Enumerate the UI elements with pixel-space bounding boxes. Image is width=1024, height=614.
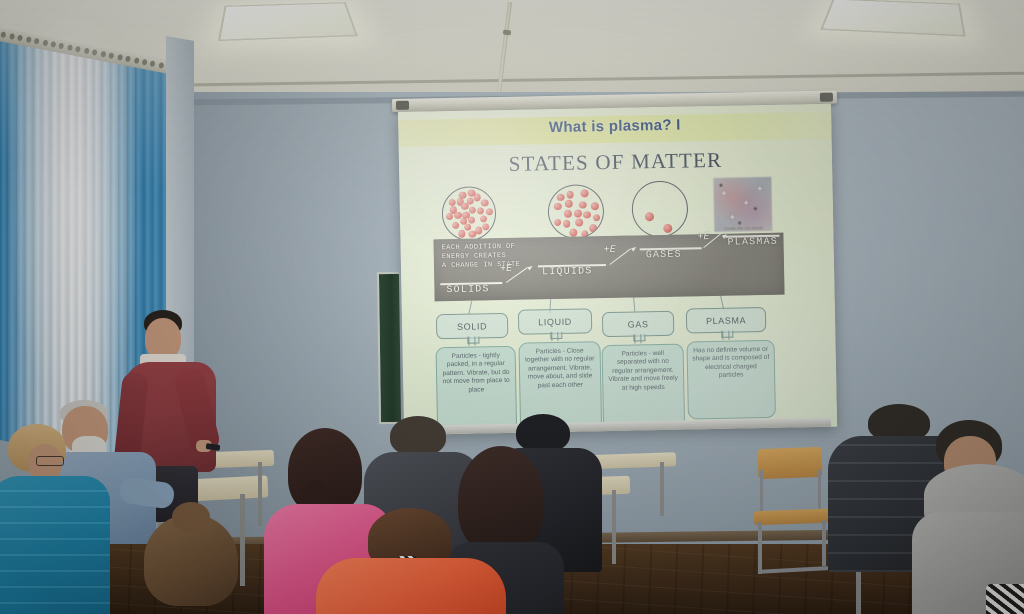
particle-dot bbox=[475, 227, 482, 234]
callout-link-gas bbox=[634, 334, 641, 343]
audience-woman-teal-jacket bbox=[0, 424, 114, 614]
blind-rail-bead bbox=[0, 31, 6, 38]
audience-woman-bun-hair bbox=[128, 498, 254, 614]
blind-rail-bead bbox=[150, 60, 156, 67]
orange-jacket bbox=[316, 558, 506, 614]
blind-rail-bead bbox=[67, 44, 73, 51]
blind-rail-bead bbox=[50, 41, 56, 48]
empty-chair[interactable] bbox=[752, 448, 838, 576]
plasma-patch-caption: Inside the ion cloud bbox=[714, 225, 772, 231]
particle-dot bbox=[469, 207, 476, 214]
particle-dot bbox=[663, 224, 672, 233]
staircase-transition-2: +E bbox=[604, 245, 616, 256]
particle-dot bbox=[459, 192, 466, 199]
particle-dot bbox=[591, 202, 599, 210]
blind-rail-bead bbox=[108, 52, 114, 59]
particle-diagram-plasma: + + + + Inside the ion cloud bbox=[713, 177, 772, 232]
particle-dot bbox=[476, 207, 483, 214]
blind-rail-bead bbox=[117, 54, 123, 61]
particle-dot bbox=[481, 200, 488, 207]
state-callout-solid: SOLID bbox=[436, 313, 508, 339]
particle-dot bbox=[482, 223, 489, 230]
blind-rail-bead bbox=[17, 35, 23, 42]
classroom-scene: What is plasma? I STATES OF MATTER + + +… bbox=[0, 0, 1024, 614]
state-description-plasma: Has no definite volume or shape and is c… bbox=[686, 340, 775, 420]
audience-woman-orange-jacket bbox=[316, 508, 506, 614]
particle-dot bbox=[458, 230, 465, 237]
hair-bun bbox=[172, 502, 210, 532]
connector-solid bbox=[468, 301, 472, 315]
particle-dot bbox=[468, 189, 475, 196]
state-callout-liquid: LIQUID bbox=[518, 308, 592, 334]
blind-rail-bead bbox=[9, 33, 15, 40]
particle-dot bbox=[645, 212, 654, 221]
blind-rail-bead bbox=[83, 48, 89, 55]
blind-rail-bead bbox=[142, 59, 148, 66]
slide-subtitle: STATES OF MATTER bbox=[399, 146, 832, 179]
particle-dot bbox=[449, 199, 456, 206]
blind-rail-bead bbox=[133, 57, 139, 64]
particle-diagram-solid bbox=[441, 186, 496, 241]
callout-link-solid bbox=[468, 337, 475, 346]
blind-rail-bead bbox=[158, 62, 164, 69]
connector-gas bbox=[633, 297, 635, 311]
staircase-step-liquids: LIQUIDS bbox=[542, 266, 593, 278]
staircase-step-gases: GASES bbox=[646, 250, 682, 262]
particle-dot bbox=[554, 203, 562, 211]
blind-rail-bead bbox=[125, 56, 131, 63]
staircase-transition-3: +E bbox=[697, 232, 709, 243]
particle-dot bbox=[486, 208, 493, 215]
eyeglasses bbox=[36, 456, 64, 466]
particle-dot bbox=[566, 191, 574, 199]
teal-puffer-jacket bbox=[0, 476, 110, 614]
particle-dot bbox=[554, 219, 562, 227]
particle-dot bbox=[579, 201, 587, 209]
particle-dot bbox=[462, 211, 469, 218]
particle-dot bbox=[590, 224, 598, 232]
particle-dot bbox=[469, 230, 476, 237]
particle-diagram-gas bbox=[631, 180, 688, 237]
energy-staircase-diagram: EACH ADDITION OF ENERGY CREATES A CHANGE… bbox=[433, 233, 784, 302]
conduit-clip bbox=[503, 30, 512, 36]
chalkboard bbox=[377, 272, 401, 424]
particle-dot bbox=[564, 210, 572, 218]
staircase-transition-1: +E bbox=[500, 264, 512, 275]
blind-rail-bead bbox=[42, 39, 48, 46]
blind-rail-bead bbox=[34, 38, 40, 45]
blind-rail-bead bbox=[92, 49, 98, 56]
callout-link-plasma bbox=[722, 331, 729, 340]
projection-screen: What is plasma? I STATES OF MATTER + + +… bbox=[398, 104, 837, 435]
particle-dot bbox=[583, 211, 591, 219]
particle-dot bbox=[581, 190, 589, 198]
particle-dot bbox=[563, 220, 571, 228]
particle-dot bbox=[452, 222, 459, 229]
particle-dot bbox=[445, 213, 452, 220]
state-description-gas: Particles - well separated with no regul… bbox=[602, 344, 686, 432]
audience-person-grey-hoodie bbox=[910, 420, 1024, 614]
slide-canvas: What is plasma? I STATES OF MATTER + + +… bbox=[398, 104, 837, 435]
blind-rail-bead bbox=[59, 43, 65, 50]
state-callout-plasma: PLASMA bbox=[686, 307, 766, 334]
patterned-bag bbox=[986, 584, 1024, 614]
blind-rail-bead bbox=[100, 51, 106, 58]
particle-dot bbox=[574, 209, 582, 217]
blind-rail-bead bbox=[25, 36, 31, 43]
callout-link-liquid bbox=[551, 332, 558, 341]
particle-dot bbox=[575, 219, 583, 227]
staircase-step-solids: SOLIDS bbox=[446, 284, 489, 296]
state-callout-gas: GAS bbox=[602, 311, 674, 337]
particle-dot bbox=[569, 229, 577, 237]
staircase-step-plasmas: PLASMAS bbox=[727, 237, 778, 249]
particle-dot bbox=[565, 200, 573, 208]
particle-dot bbox=[557, 194, 565, 202]
particle-dot bbox=[466, 197, 473, 204]
blind-rail-bead bbox=[75, 46, 81, 53]
particle-dot bbox=[593, 214, 601, 222]
particle-diagram-liquid bbox=[547, 184, 604, 239]
particle-dot bbox=[480, 215, 487, 222]
ceiling-light-left bbox=[218, 2, 358, 41]
